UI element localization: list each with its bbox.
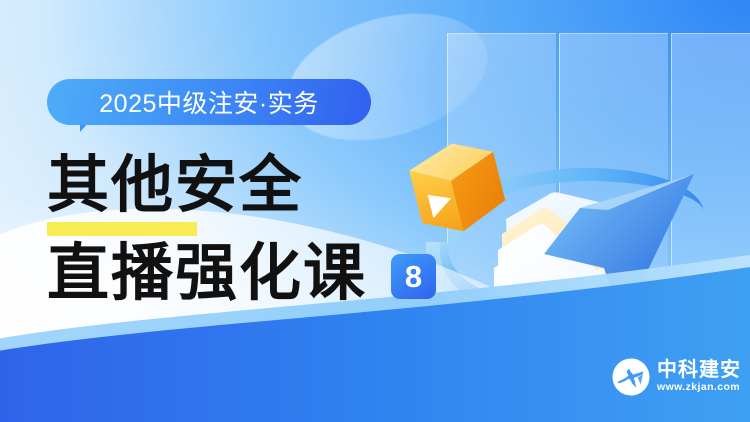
yellow-highlight-bar: [47, 222, 197, 236]
brand-url: www.zkjan.com: [657, 381, 741, 394]
brand-name: 中科建安: [657, 360, 741, 381]
page-title-line-2: 直播强化课: [47, 238, 367, 310]
title-line-1-row: 其他安全: [47, 150, 467, 222]
zkjan-circle-mark-icon: [612, 358, 650, 396]
title-block: 其他安全 直播强化课 8: [47, 150, 467, 310]
brand-logo-text: 中科建安 www.zkjan.com: [657, 360, 741, 394]
course-banner: 2025中级注安·实务 其他安全 直播强化课 8 中科建安: [0, 0, 750, 422]
episode-number-badge: 8: [391, 254, 436, 299]
brand-logo: 中科建安 www.zkjan.com: [612, 356, 744, 398]
badge-label: 2025中级注安·实务: [99, 84, 318, 120]
page-title-line-1: 其他安全: [47, 150, 303, 222]
title-line-2-row: 直播强化课 8: [47, 238, 467, 310]
episode-number: 8: [405, 261, 422, 292]
badge-pill-background: 2025中级注安·实务: [47, 79, 371, 125]
course-subject-badge: 2025中级注安·实务: [47, 79, 377, 135]
